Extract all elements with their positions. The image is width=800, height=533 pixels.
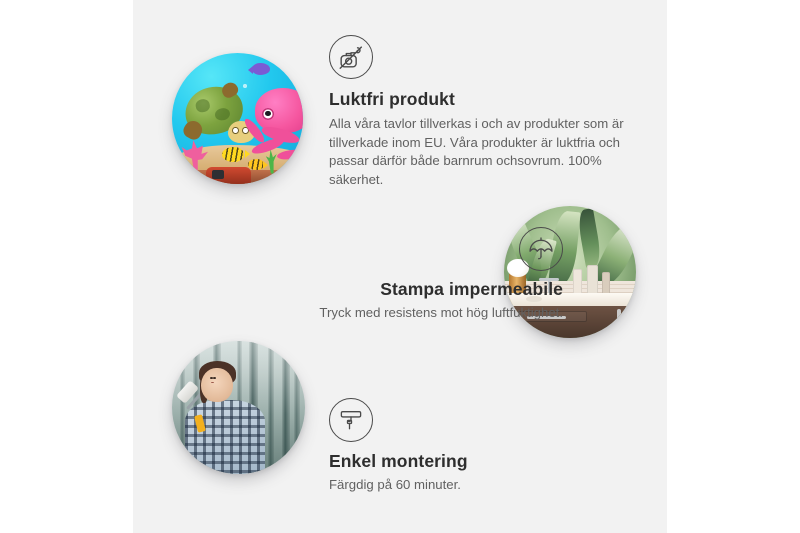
octopus-eye	[262, 108, 274, 120]
fish-icon	[248, 159, 264, 169]
feature-title: Luktfri produkt	[329, 89, 629, 110]
smile-icon	[211, 380, 215, 382]
toiletry-bottle	[573, 269, 582, 295]
feature-easy-mounting: Enkel montering Färgdig på 60 minuter.	[329, 398, 629, 495]
forest-wallpaper-painter-image[interactable]	[172, 341, 305, 474]
forest-scene	[172, 341, 305, 474]
eye-icon	[213, 377, 216, 379]
product-feature-panel: Luktfri produkt Alla våra tavlor tillver…	[133, 0, 667, 533]
feature-title: Stampa impermeabile	[213, 279, 563, 300]
feature-description: Tryck med resistens mot hög luftfuktighe…	[213, 304, 563, 323]
cabinet-handle	[632, 309, 636, 327]
feature-title: Enkel montering	[329, 451, 629, 472]
painter-face	[201, 368, 233, 403]
feature-description: Alla våra tavlor tillverkas i och av pro…	[329, 115, 629, 190]
underwater-kids-mural-image[interactable]	[172, 53, 303, 184]
painter-body	[185, 400, 265, 474]
fish-icon	[222, 147, 244, 161]
umbrella-icon	[519, 227, 563, 271]
sunken-boat	[206, 167, 251, 184]
screenshot-root: Luktfri produkt Alla våra tavlor tillver…	[0, 0, 800, 533]
paint-roller-icon	[329, 398, 373, 442]
octopus-icon	[255, 88, 303, 133]
feature-description: Färgdig på 60 minuter.	[329, 476, 629, 495]
cabinet-handle	[617, 309, 621, 327]
feature-waterproof: Stampa impermeabile Tryck med resistens …	[213, 227, 563, 323]
feature-odourless: Luktfri produkt Alla våra tavlor tillver…	[329, 35, 629, 190]
ocean-scene	[172, 53, 303, 184]
no-fragrance-icon	[329, 35, 373, 79]
